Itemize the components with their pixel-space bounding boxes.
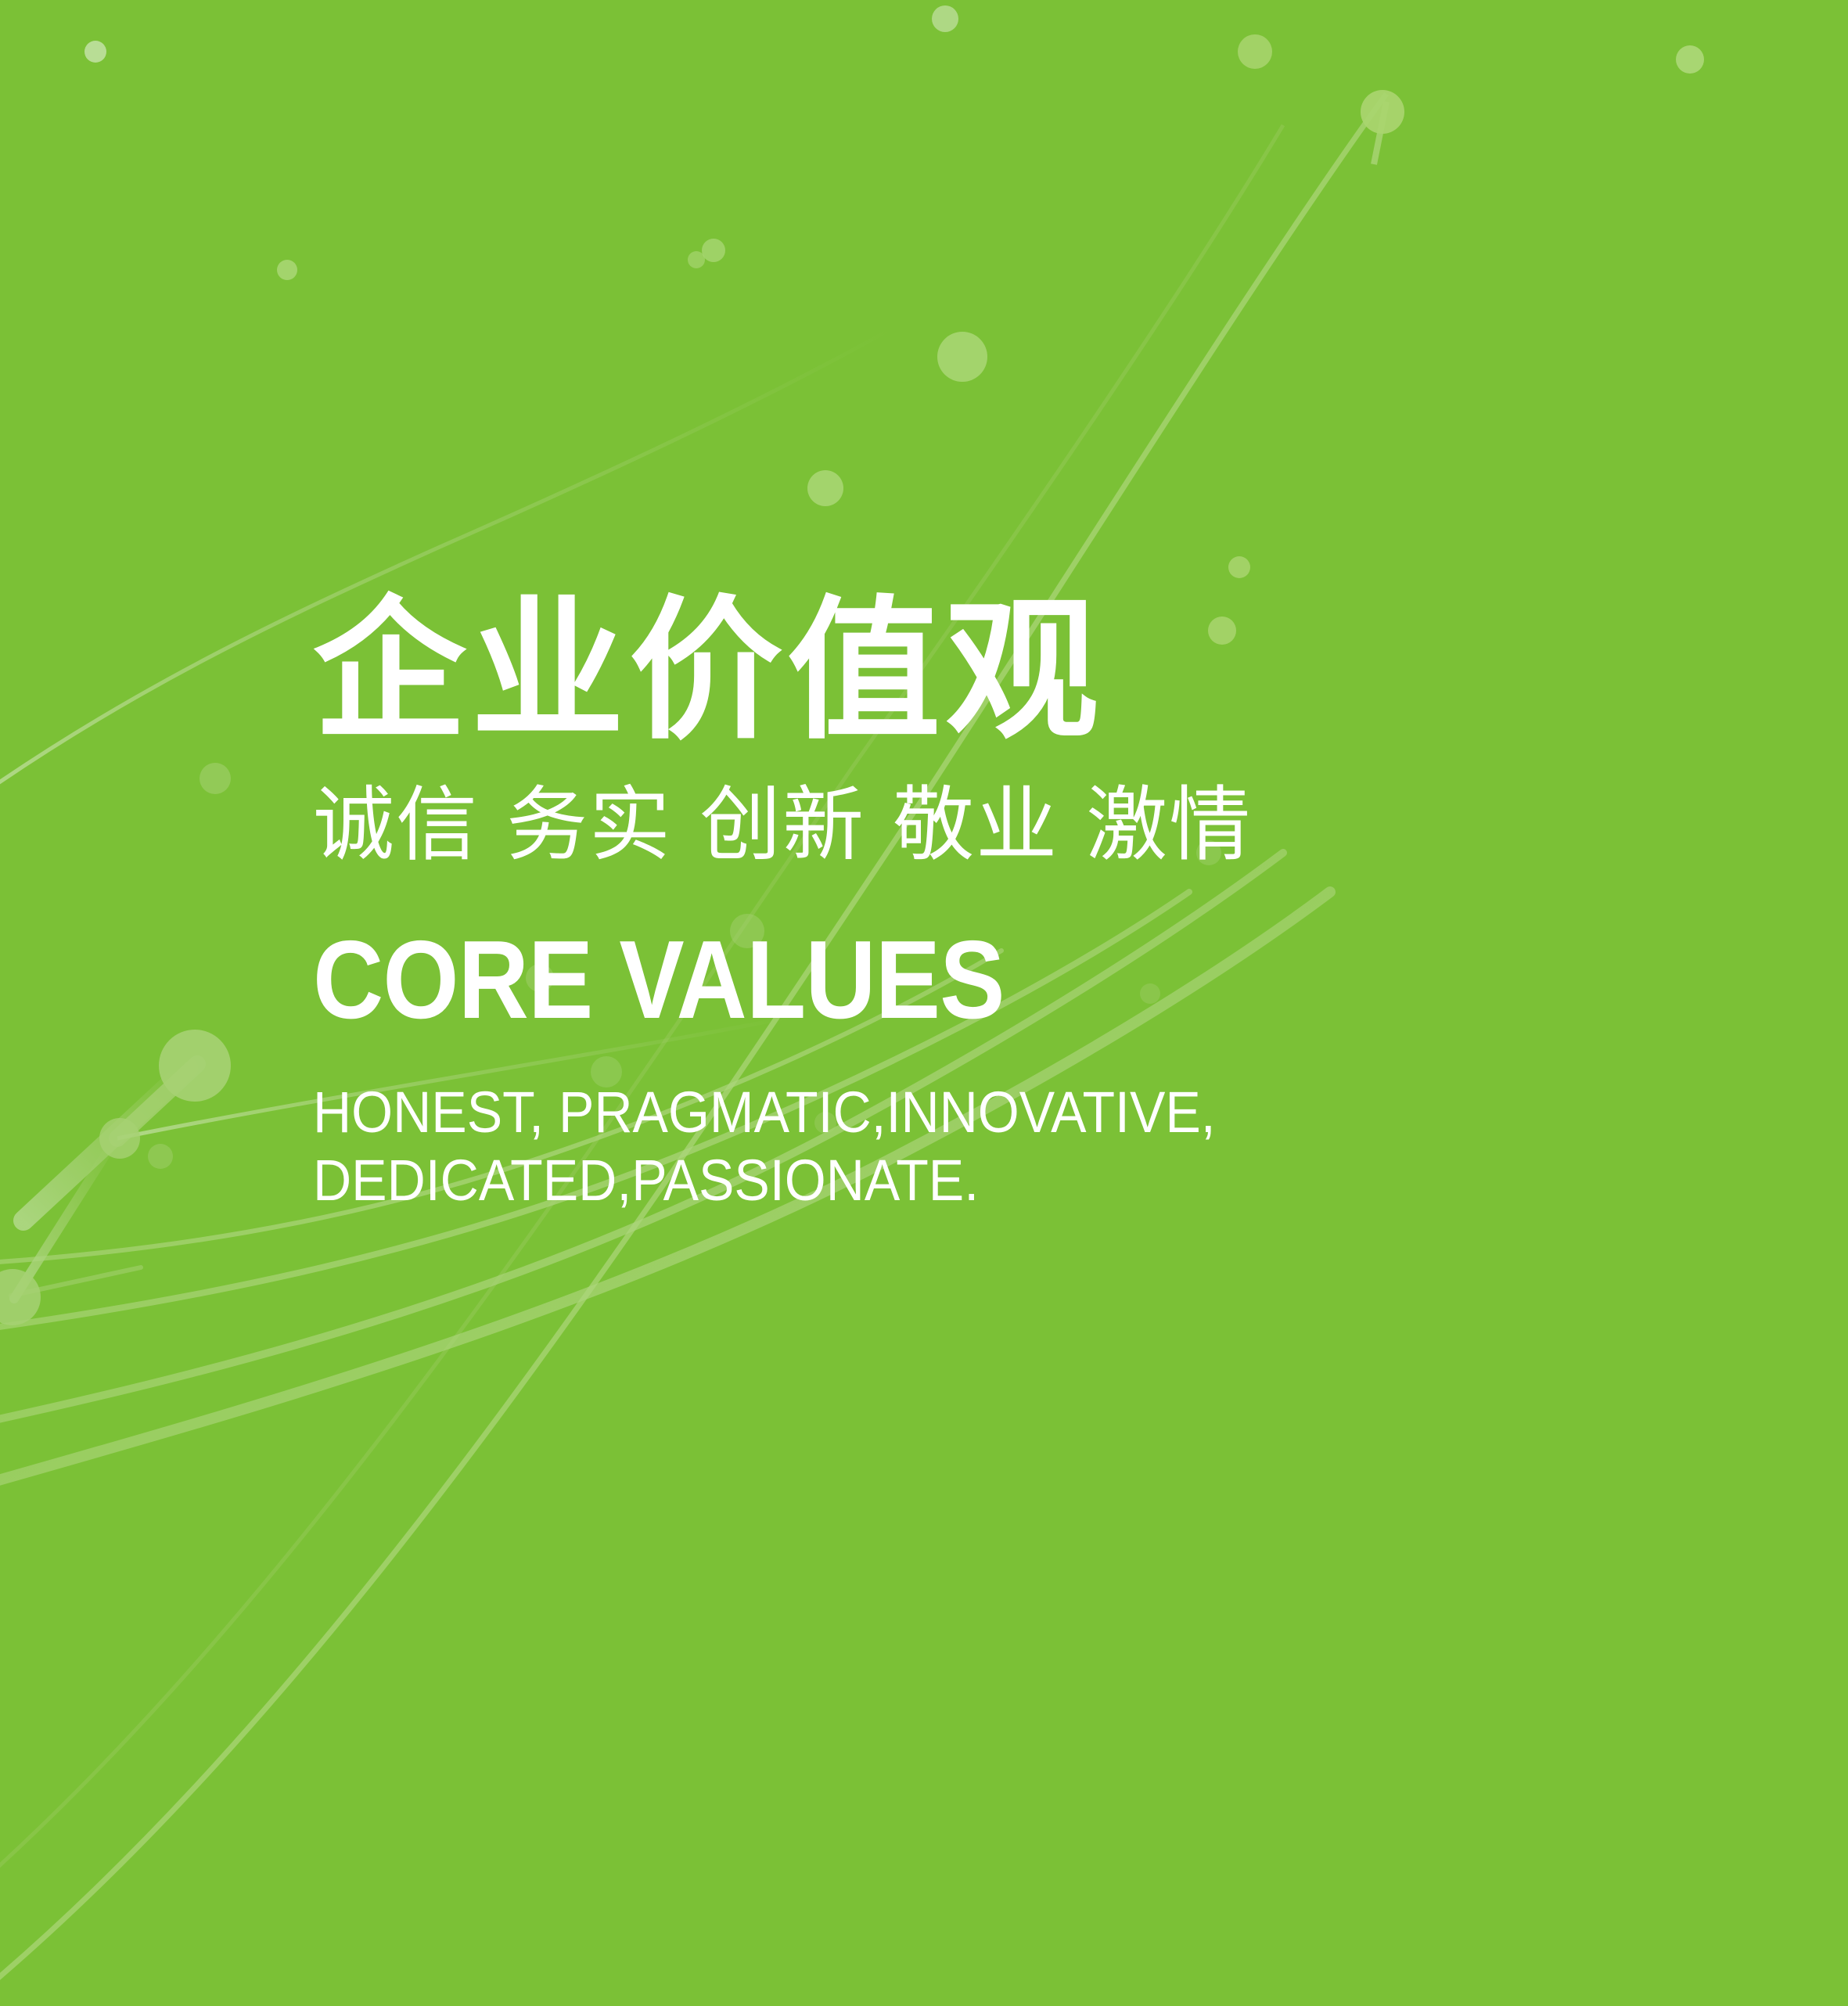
page-subtitle-chinese: 诚信 务实 创新 敬业 激情 — [313, 784, 1682, 865]
node-dot — [807, 470, 843, 506]
node-dot — [702, 239, 725, 262]
node-dot — [148, 1144, 173, 1169]
node-dot — [200, 763, 231, 794]
headline-block: 企业价值观 诚信 务实 创新 敬业 激情 CORE VALUES HONEST,… — [313, 595, 1682, 1215]
node-dot — [688, 251, 705, 268]
node-dot — [99, 1118, 140, 1159]
core-values-poster: 企业价值观 诚信 务实 创新 敬业 激情 CORE VALUES HONEST,… — [0, 0, 1848, 2006]
body-line-1: HONEST, PRAGMATIC,INNOVATIVE, — [313, 1078, 1573, 1146]
node-dot — [84, 41, 106, 63]
page-title-english: CORE VALUES — [313, 925, 1518, 1036]
node-dot — [1361, 90, 1404, 134]
page-title-chinese: 企业价值观 — [313, 595, 1682, 748]
body-line-2: DEDICATED,PASSIONATE. — [313, 1146, 1573, 1214]
node-dot — [1238, 34, 1272, 69]
node-dot — [1228, 556, 1250, 578]
node-dot — [937, 332, 987, 382]
page-body-english: HONEST, PRAGMATIC,INNOVATIVE, DEDICATED,… — [313, 1078, 1573, 1215]
node-dot — [0, 1269, 41, 1325]
node-dot — [1676, 45, 1704, 74]
node-dot — [932, 5, 958, 32]
node-dot — [159, 1030, 231, 1102]
node-dot — [277, 260, 297, 280]
